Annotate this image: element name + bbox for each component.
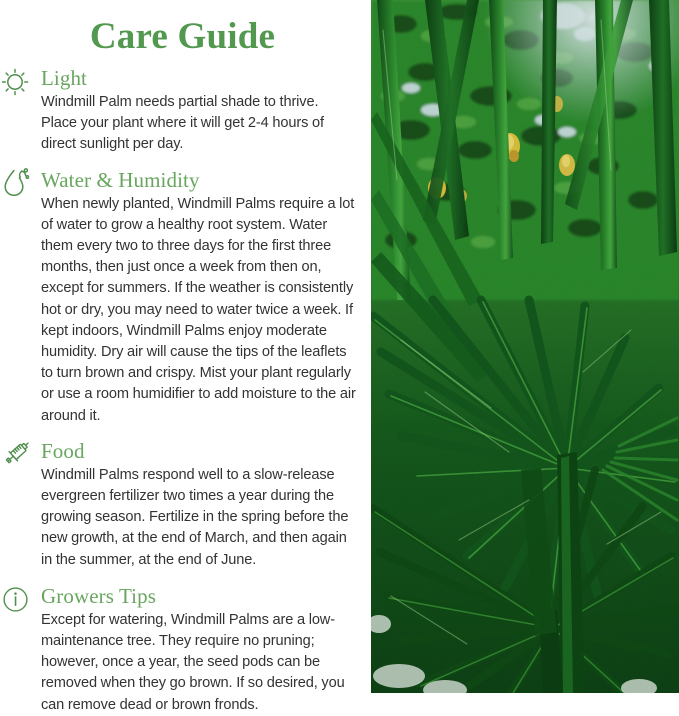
section-body-growers-tips: Except for watering, Windmill Palms are … bbox=[41, 610, 357, 716]
care-section-water: Water & Humidity When newly planted, Win… bbox=[0, 167, 371, 427]
section-body-food: Windmill Palms respond well to a slow-re… bbox=[41, 465, 357, 571]
page-title: Care Guide bbox=[0, 0, 371, 55]
care-guide-panel: Care Guide L bbox=[0, 0, 371, 693]
care-section-growers-tips: Growers Tips Except for watering, Windmi… bbox=[0, 583, 371, 716]
care-section-light: Light Windmill Palm needs partial shade … bbox=[0, 65, 371, 156]
section-heading-light: Light bbox=[41, 65, 357, 91]
section-heading-water: Water & Humidity bbox=[41, 167, 357, 193]
care-guide-page: Care Guide L bbox=[0, 0, 679, 693]
section-body-water: When newly planted, Windmill Palms requi… bbox=[41, 194, 357, 427]
care-section-food: Food Windmill Palms respond well to a sl… bbox=[0, 438, 371, 571]
sun-icon bbox=[0, 65, 40, 99]
info-circle-icon bbox=[0, 583, 40, 617]
water-drop-icon bbox=[0, 167, 40, 201]
section-heading-food: Food bbox=[41, 438, 357, 464]
section-body-light: Windmill Palm needs partial shade to thr… bbox=[41, 92, 357, 156]
section-heading-growers-tips: Growers Tips bbox=[41, 583, 357, 609]
syringe-icon bbox=[0, 438, 40, 472]
windmill-palm-photo bbox=[371, 0, 679, 693]
